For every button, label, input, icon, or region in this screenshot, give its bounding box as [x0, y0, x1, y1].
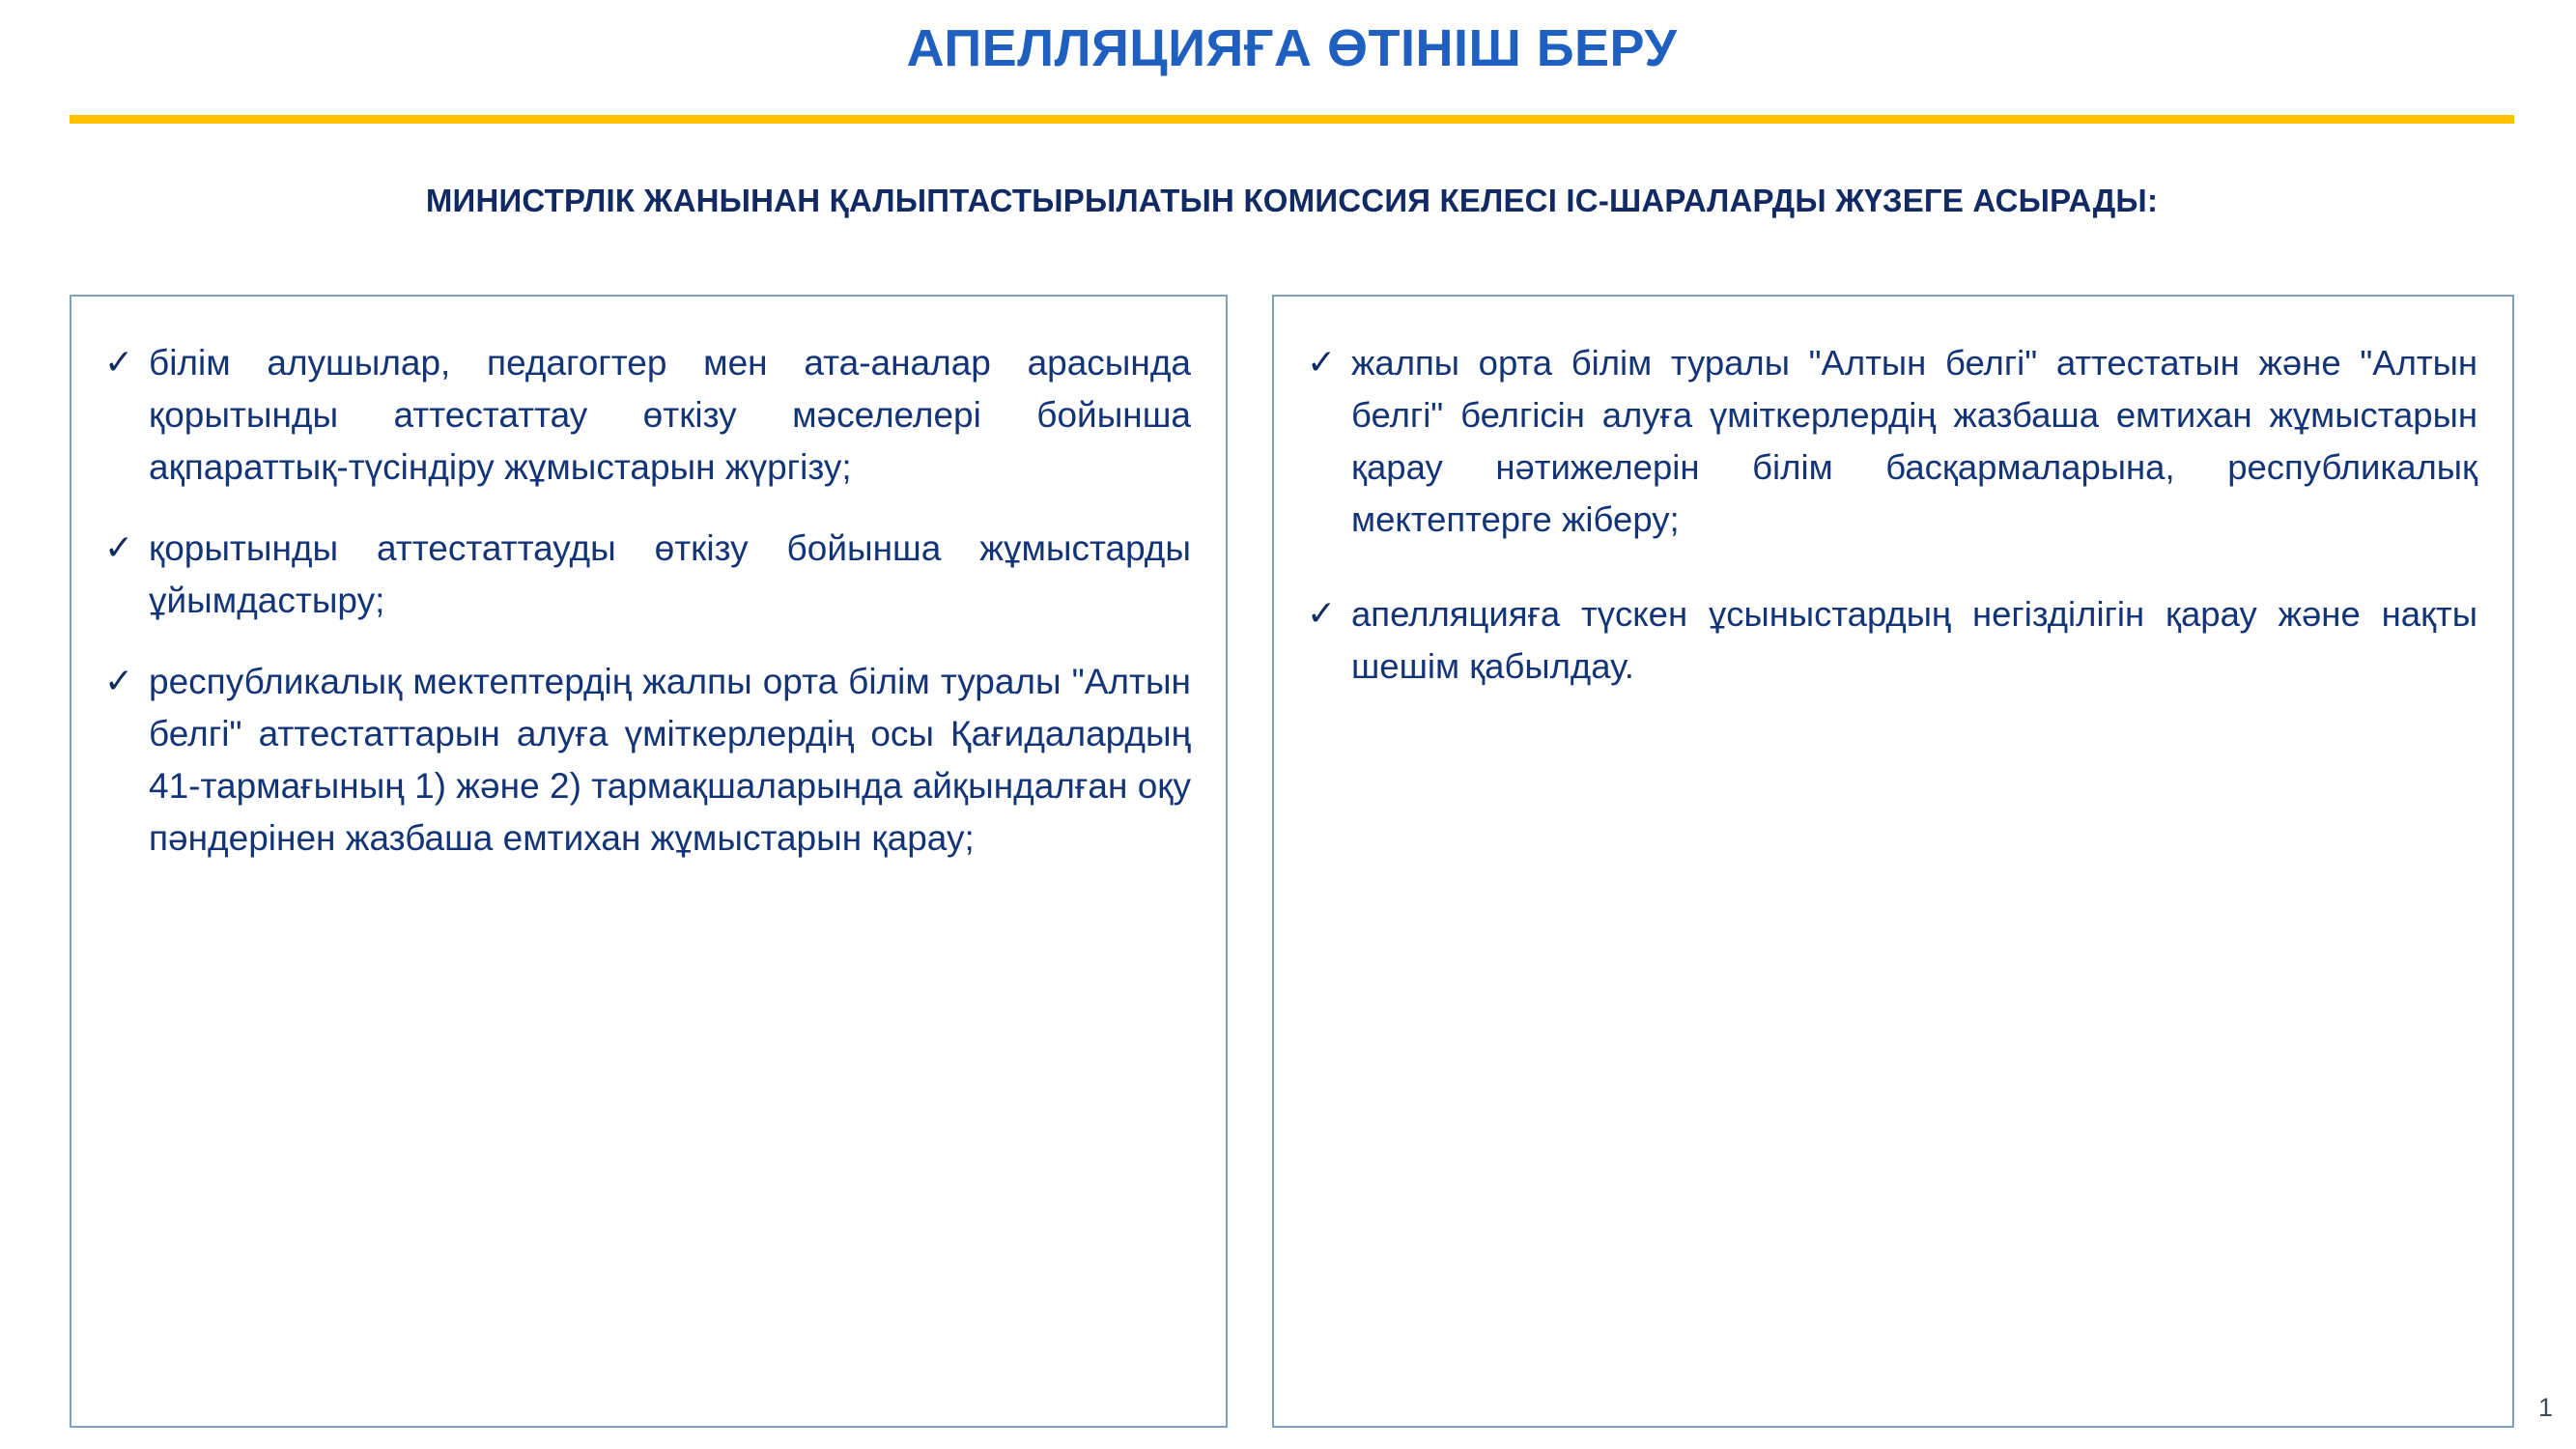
page-title: АПЕЛЛЯЦИЯҒА ӨТІНІШ БЕРУ	[70, 17, 2514, 79]
check-icon: ✓	[104, 523, 149, 575]
list-item-text: жалпы орта білім туралы "Алтын белгі" ат…	[1351, 337, 2477, 546]
list-item: ✓ республикалық мектептердің жалпы орта …	[104, 656, 1191, 865]
check-icon: ✓	[1307, 588, 1351, 640]
page-number: 1	[2538, 1393, 2553, 1422]
list-item-text: апелляцияға түскен ұсыныстардың негізділ…	[1351, 588, 2477, 693]
title-divider	[70, 115, 2514, 124]
list-item: ✓ қорытынды аттестаттауды өткізу бойынша…	[104, 523, 1191, 627]
check-icon: ✓	[104, 337, 149, 389]
right-content-box: ✓ жалпы орта білім туралы "Алтын белгі" …	[1272, 295, 2514, 1428]
left-content-box: ✓ білім алушылар, педагогтер мен ата-ана…	[70, 295, 1228, 1428]
subtitle-text: МИНИСТРЛІК ЖАНЫНАН ҚАЛЫПТАСТЫРЫЛАТЫН КОМ…	[70, 180, 2514, 222]
list-item-text: республикалық мектептердің жалпы орта бі…	[149, 656, 1191, 865]
check-icon: ✓	[1307, 337, 1351, 389]
list-item-text: білім алушылар, педагогтер мен ата-анала…	[149, 337, 1191, 494]
list-item: ✓ апелляцияға түскен ұсыныстардың негізд…	[1307, 588, 2477, 693]
list-item: ✓ білім алушылар, педагогтер мен ата-ана…	[104, 337, 1191, 494]
list-item: ✓ жалпы орта білім туралы "Алтын белгі" …	[1307, 337, 2477, 546]
list-item-text: қорытынды аттестаттауды өткізу бойынша ж…	[149, 523, 1191, 627]
check-icon: ✓	[104, 656, 149, 708]
